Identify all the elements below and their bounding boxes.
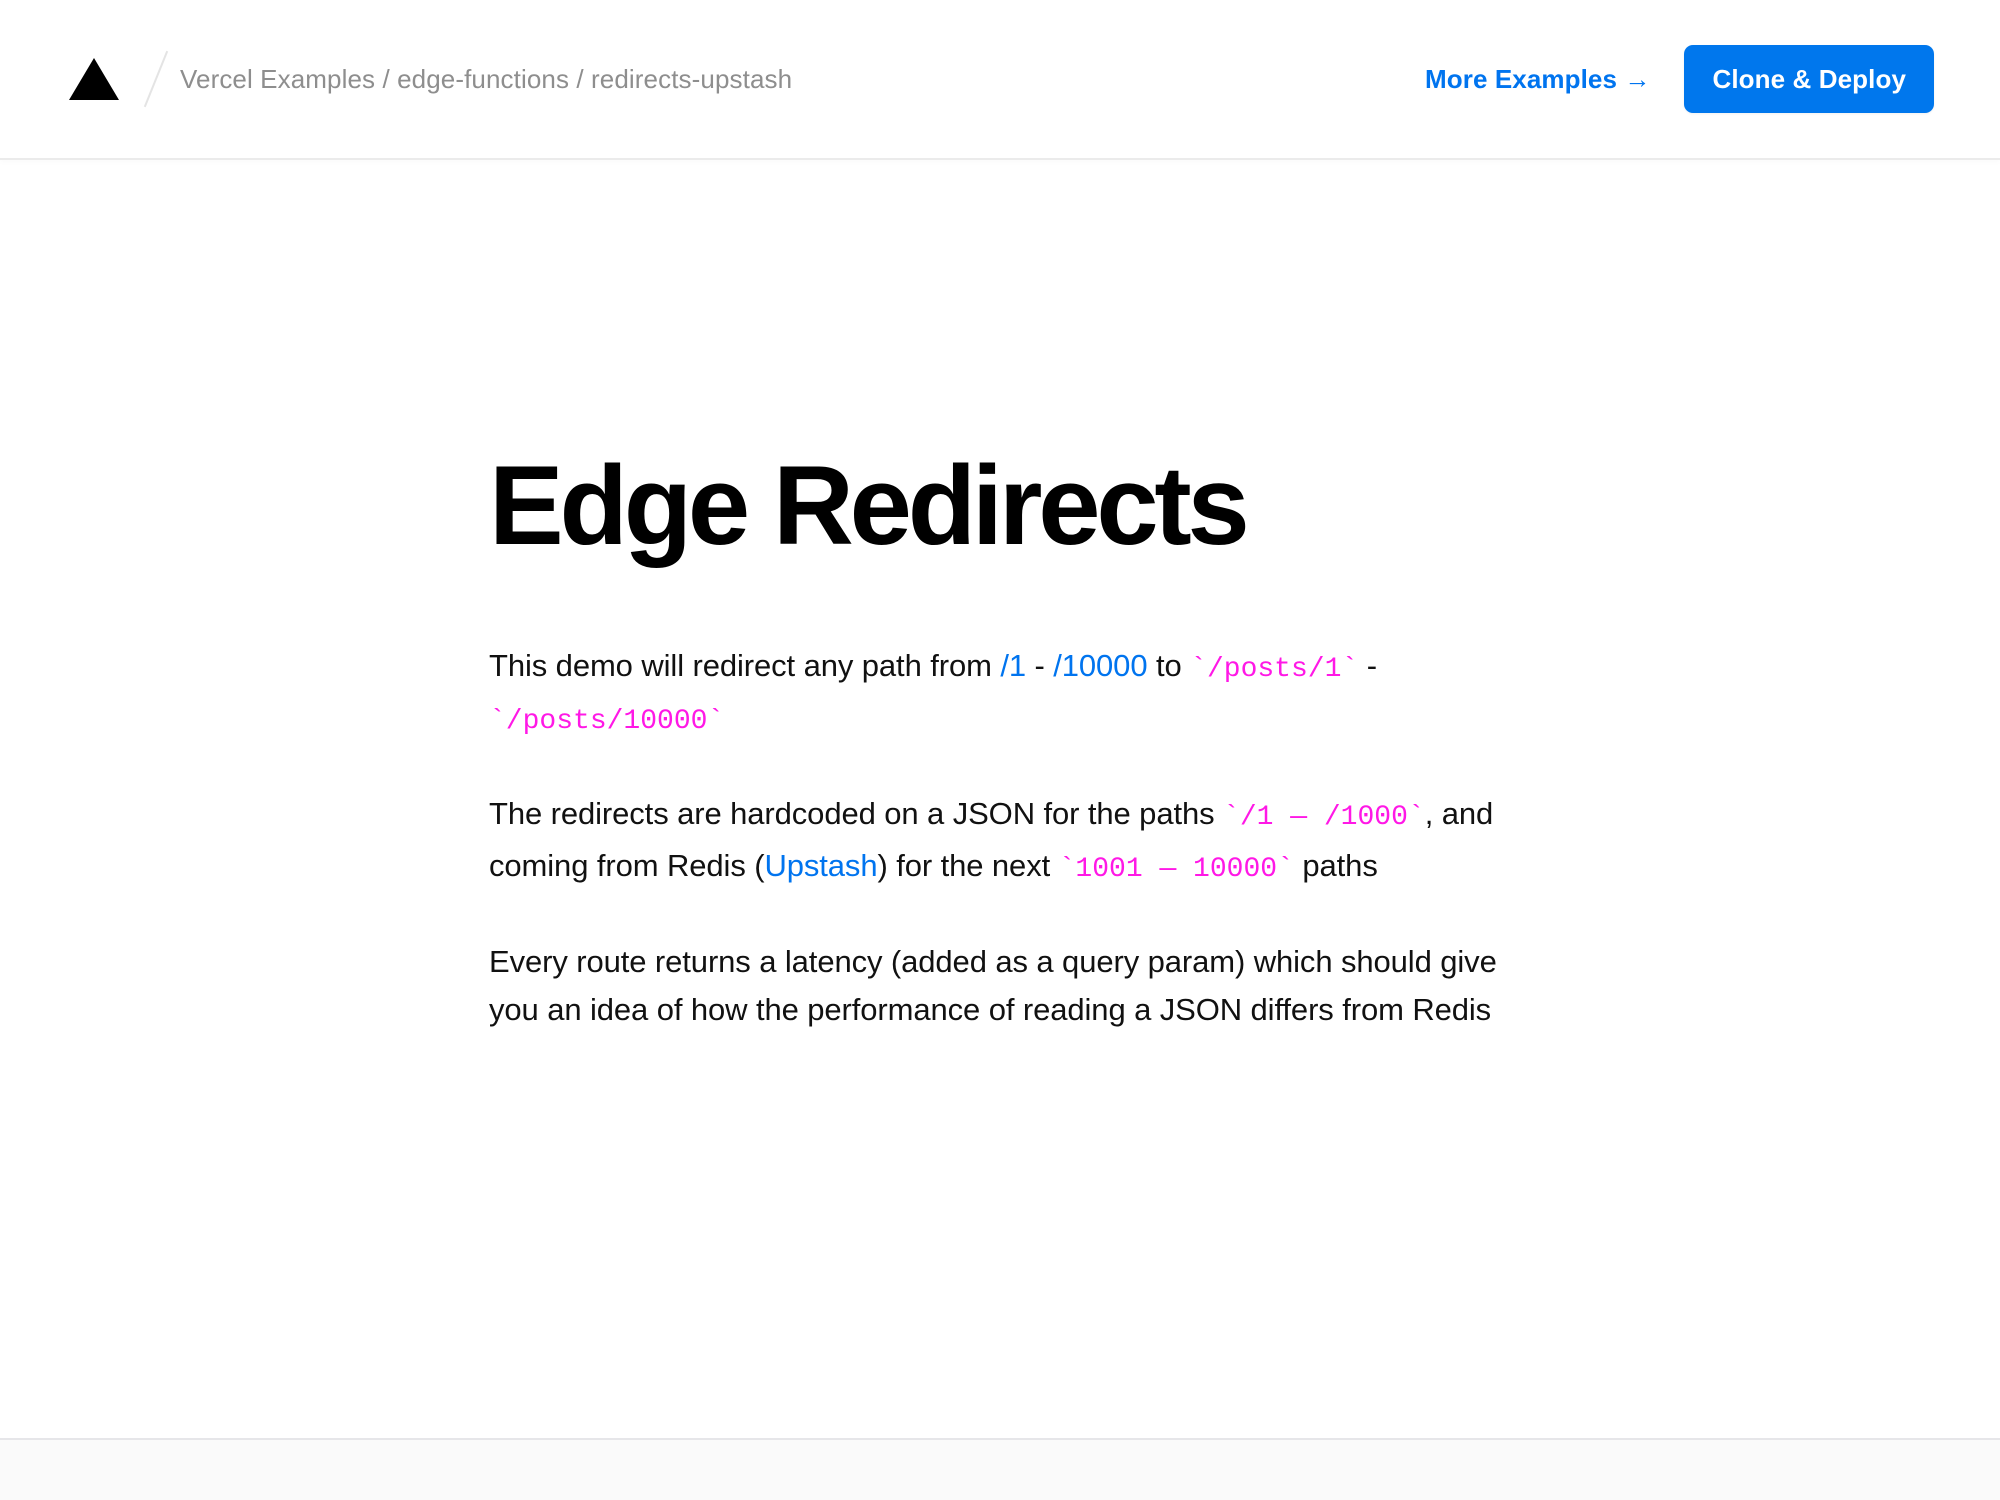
- prose-text: to: [1147, 648, 1190, 683]
- inline-code: `1001 — 10000`: [1059, 854, 1294, 885]
- site-header: Vercel Examples / edge-functions / redir…: [0, 0, 2000, 160]
- prose-text: Every route returns a latency (added as …: [489, 944, 1497, 1027]
- prose-block: This demo will redirect any path from /1…: [489, 642, 1499, 1034]
- prose-text: This demo will redirect any path from: [489, 648, 1000, 683]
- prose-link[interactable]: /1: [1000, 648, 1026, 683]
- paragraph-latency: Every route returns a latency (added as …: [489, 938, 1499, 1034]
- breadcrumb: Vercel Examples / edge-functions / redir…: [180, 64, 792, 94]
- prose-text: paths: [1294, 848, 1378, 883]
- vercel-triangle-icon: [68, 56, 120, 102]
- page-root: Vercel Examples / edge-functions / redir…: [0, 0, 2000, 1500]
- main-content: Edge Redirects This demo will redirect a…: [0, 160, 2000, 1438]
- prose-link[interactable]: Upstash: [764, 848, 877, 883]
- inline-code: `/1 — /1000`: [1223, 802, 1425, 833]
- prose-text: The redirects are hardcoded on a JSON fo…: [489, 796, 1223, 831]
- header-left-group: Vercel Examples / edge-functions / redir…: [68, 49, 792, 109]
- inline-code: `/posts/10000`: [489, 706, 724, 737]
- header-right-group: More Examples → Clone & Deploy: [1425, 45, 1934, 113]
- prose-text: -: [1026, 648, 1053, 683]
- clone-and-deploy-button[interactable]: Clone & Deploy: [1684, 45, 1934, 113]
- content-column: Edge Redirects This demo will redirect a…: [489, 450, 1499, 1034]
- paragraph-redirect-range: This demo will redirect any path from /1…: [489, 642, 1499, 746]
- vercel-logo-link[interactable]: [68, 56, 120, 102]
- prose-link[interactable]: /10000: [1053, 648, 1147, 683]
- inline-code: `/posts/1`: [1190, 654, 1358, 685]
- slash-separator-icon: [138, 49, 176, 109]
- paragraph-data-sources: The redirects are hardcoded on a JSON fo…: [489, 790, 1499, 894]
- site-footer: [0, 1438, 2000, 1500]
- page-title: Edge Redirects: [489, 450, 1499, 562]
- prose-text: ) for the next: [877, 848, 1058, 883]
- prose-text: -: [1358, 648, 1377, 683]
- more-examples-link[interactable]: More Examples →: [1425, 64, 1650, 94]
